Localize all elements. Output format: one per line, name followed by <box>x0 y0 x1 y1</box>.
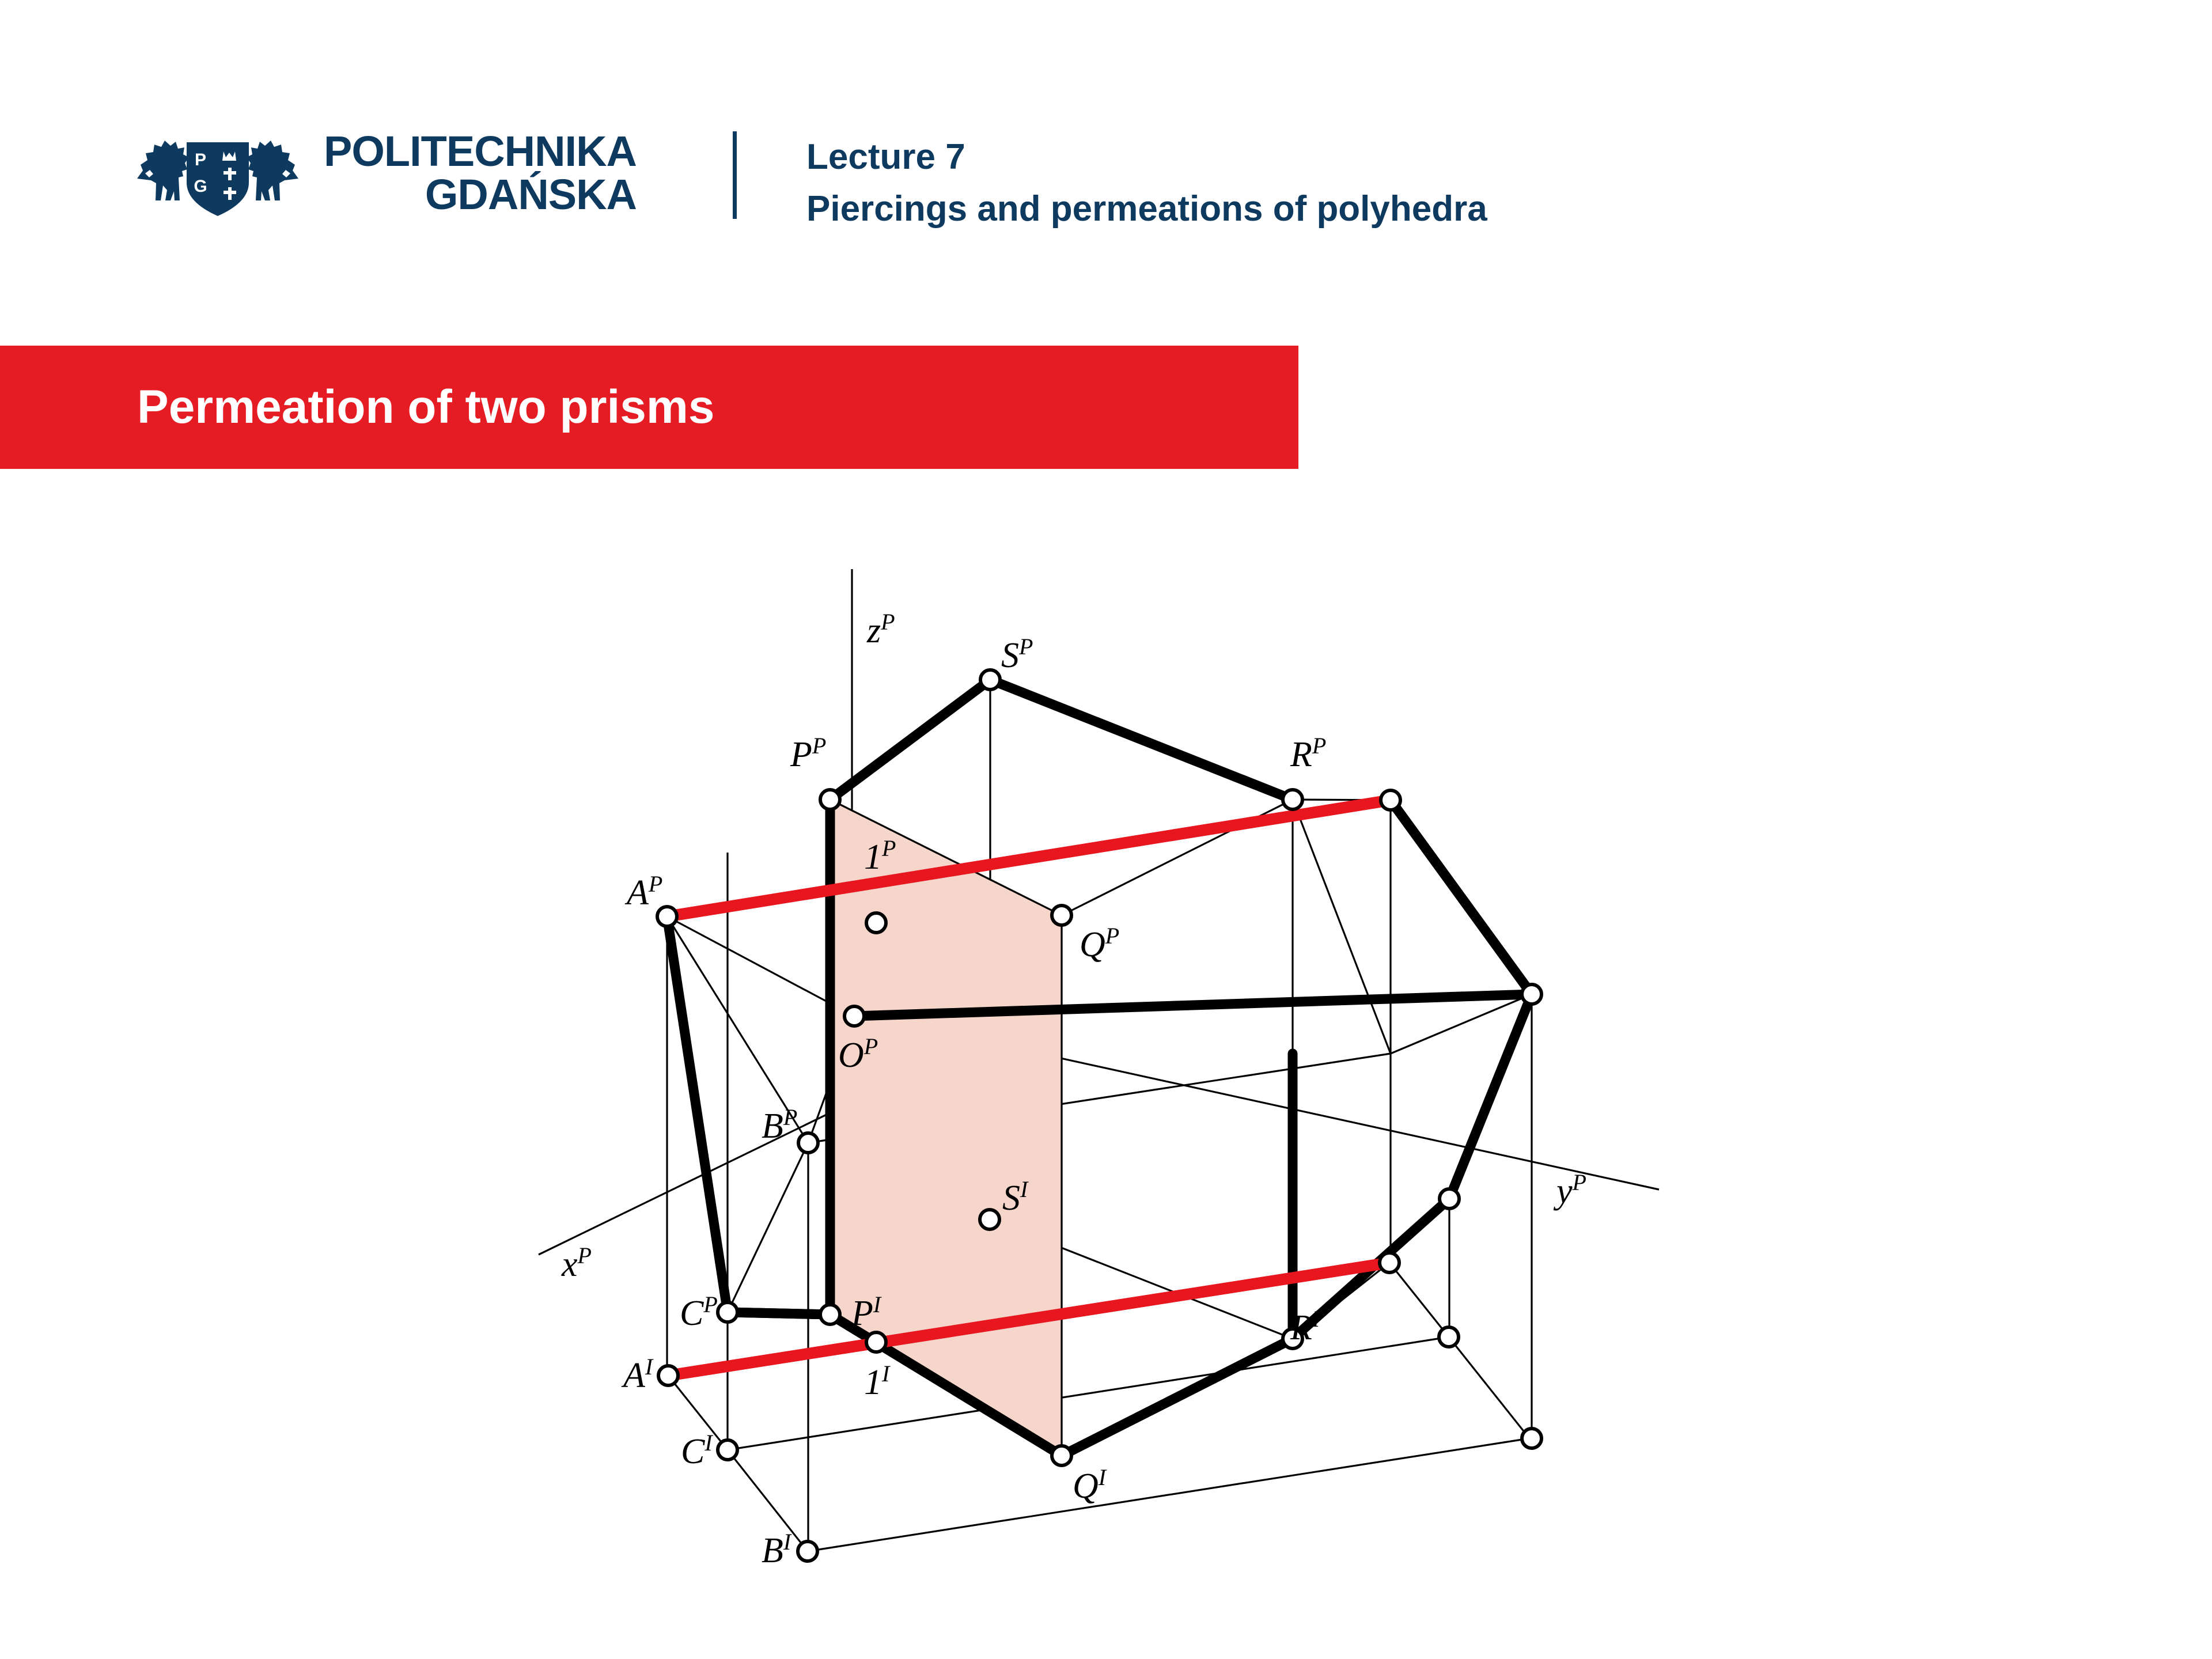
vertex-O-front <box>844 1006 864 1026</box>
vertex-S-top <box>1440 1189 1459 1209</box>
vertex-C-top <box>718 1440 737 1460</box>
header-divider <box>733 131 737 219</box>
label-B-front: BP <box>762 1104 797 1146</box>
university-name-line1: POLITECHNIKA <box>324 130 637 173</box>
projection-diagram: zPxPyPSPPPRPAP1PQPOPBPSICPPIRI1IAICIQIBI <box>0 507 2212 1659</box>
cutting-plane <box>830 800 1062 1456</box>
gdansk-tech-crest-icon: P G <box>131 124 304 222</box>
vertex-1-top <box>866 1332 886 1352</box>
vertex-1-front <box>866 913 886 933</box>
vertex-S-front <box>980 670 1000 690</box>
lecture-number: Lecture 7 <box>806 131 1487 183</box>
label-R-front: RP <box>1290 733 1326 775</box>
vertex-C-front <box>718 1302 737 1322</box>
label-Q-front: QP <box>1080 923 1119 965</box>
label-axis-y: yP <box>1553 1169 1586 1211</box>
label-C-front: CP <box>680 1291 718 1334</box>
label-axis-z: zP <box>866 609 895 651</box>
vertex-A-front <box>657 907 677 926</box>
lecture-title: Piercings and permeations of polyhedra <box>806 183 1487 235</box>
label-P-front: PP <box>790 733 826 775</box>
slide-header: P G POLITECHNIKA GDAŃSKA Lecture 7 Pierc… <box>0 0 2212 311</box>
vertex-right-top-front <box>1381 790 1400 810</box>
vertex-B-top <box>798 1541 817 1561</box>
label-axis-x: xP <box>561 1243 592 1285</box>
vertex-P-top <box>820 1305 840 1324</box>
vertex-labels: zPxPyPSPPPRPAP1PQPOPBPSICPPIRI1IAICIQIBI <box>561 609 1586 1571</box>
label-C-top: CI <box>681 1430 713 1472</box>
university-name: POLITECHNIKA GDAŃSKA <box>324 130 637 217</box>
lecture-heading: Lecture 7 Piercings and permeations of p… <box>806 131 1487 235</box>
vertex-P-front <box>820 790 840 809</box>
label-S-front: SP <box>1001 634 1033 676</box>
slide-title-banner: Permeation of two prisms <box>0 346 1298 469</box>
vertex-right-mid-front <box>1522 984 1541 1004</box>
vertex-Q-front <box>1052 906 1071 925</box>
crest-letter-p: P <box>195 150 206 169</box>
vertex-right-lower-top <box>1439 1327 1459 1347</box>
label-A-top: AI <box>621 1354 654 1396</box>
construction-lines <box>539 569 1659 1552</box>
vertex-right-bottom-top <box>1522 1429 1541 1448</box>
technical-drawing: zPxPyPSPPPRPAP1PQPOPBPSICPPIRI1IAICIQIBI <box>0 507 2212 1659</box>
label-A-front: AP <box>624 871 662 913</box>
axis-y-line <box>979 1040 1659 1190</box>
slide-title: Permeation of two prisms <box>137 380 714 434</box>
vertex-B-front <box>798 1133 818 1153</box>
visible-outlines <box>667 680 1532 1456</box>
label-Q-top: QI <box>1073 1464 1107 1506</box>
vertex-Q-top <box>1052 1446 1071 1465</box>
vertex-right-red-top <box>1380 1253 1399 1272</box>
vertex-R-front <box>1283 790 1302 809</box>
university-name-line2: GDAŃSKA <box>324 173 637 216</box>
university-logo-block: P G POLITECHNIKA GDAŃSKA <box>131 124 637 222</box>
vertex-S-top-center <box>980 1210 999 1229</box>
vertex-A-top <box>658 1366 678 1385</box>
label-R-top: RI <box>1290 1306 1321 1348</box>
label-one-top: 1I <box>864 1361 891 1403</box>
crest-letter-g: G <box>194 177 207 196</box>
label-B-top: BI <box>762 1529 792 1571</box>
